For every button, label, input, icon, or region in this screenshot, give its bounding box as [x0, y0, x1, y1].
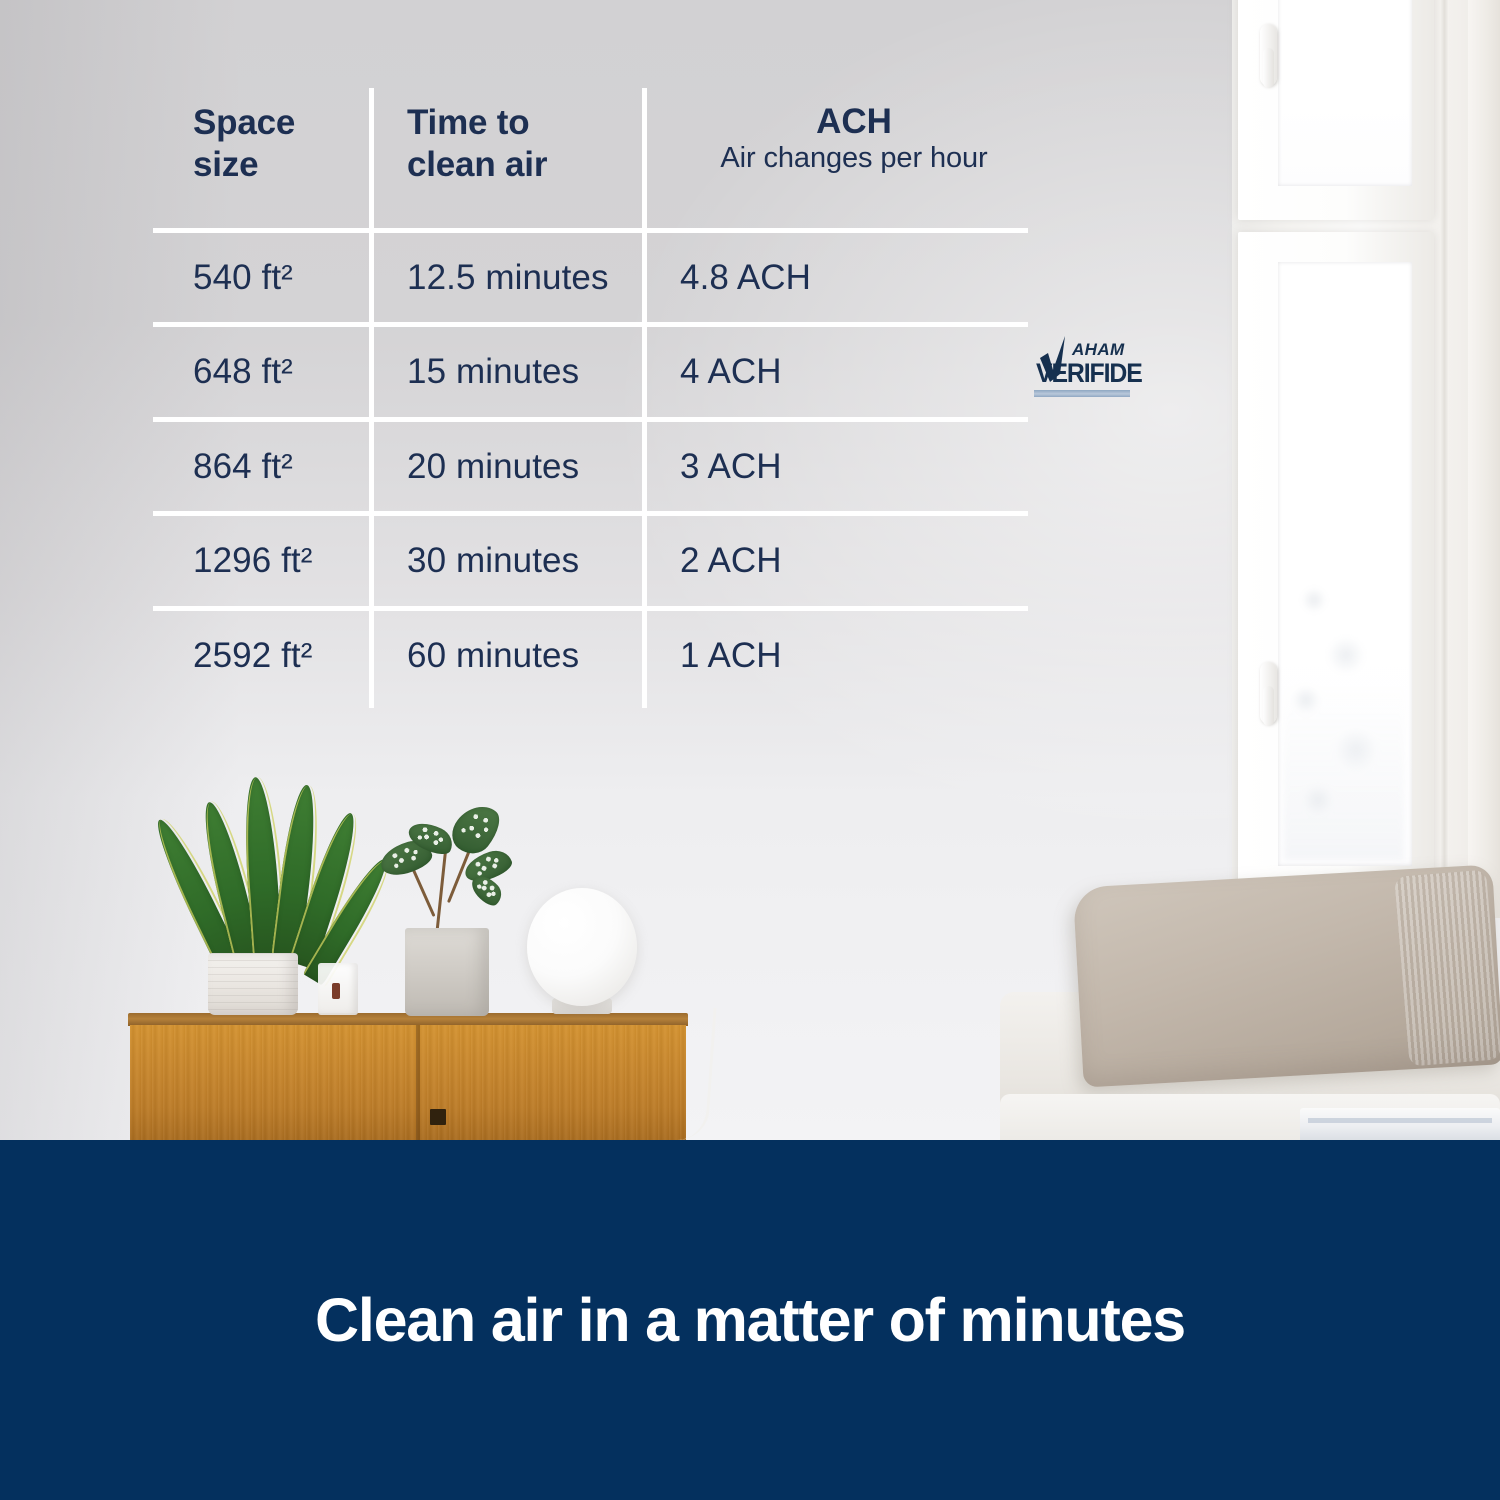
table-row: 2592 ft² — [193, 611, 369, 701]
window-handle-lower-icon — [1260, 662, 1277, 724]
header-time-line2: clean air — [407, 144, 547, 186]
sofa — [1000, 862, 1500, 1140]
table-column-divider-1 — [369, 88, 374, 708]
aham-verifide-badge: AHAM VERIFIDE — [1034, 340, 1130, 402]
badge-aham-text: AHAM — [1072, 340, 1125, 360]
header-time-line1: Time to — [407, 102, 547, 144]
table-row: 3 ACH — [680, 422, 1028, 511]
column-header-time-to-clean-air: Time to clean air — [407, 102, 642, 228]
sideboard-body — [130, 1025, 686, 1140]
table-row: 648 ft² — [193, 327, 369, 417]
table-row: 30 minutes — [407, 516, 642, 606]
globe-lamp — [527, 888, 637, 1006]
cushion-seam — [1394, 870, 1500, 1067]
banner-headline: Clean air in a matter of minutes — [315, 1285, 1185, 1355]
begonia-pot — [405, 928, 489, 1016]
table-row: 12.5 minutes — [407, 233, 642, 322]
polka-dot-begonia — [378, 805, 518, 935]
window — [1232, 0, 1500, 918]
header-space-size-line2: size — [193, 144, 295, 186]
badge-verifide-text: VERIFIDE — [1036, 358, 1142, 389]
badge-underline — [1034, 390, 1130, 397]
window-pane-upper — [1238, 0, 1434, 220]
bottom-banner: Clean air in a matter of minutes — [0, 1140, 1500, 1500]
trees-outside — [1284, 560, 1404, 860]
table-row: 1296 ft² — [193, 516, 369, 606]
book-stack — [1300, 1108, 1500, 1140]
table-row: 4.8 ACH — [680, 233, 1028, 322]
header-ach-title: ACH — [816, 102, 892, 142]
table-row: 1 ACH — [680, 611, 1028, 701]
column-header-space-size: Space size — [193, 102, 369, 228]
table-column-divider-2 — [642, 88, 647, 708]
sideboard-door-seam — [416, 1025, 420, 1140]
table-row: 540 ft² — [193, 233, 369, 322]
window-handle-upper-icon — [1260, 24, 1277, 86]
header-space-size-line1: Space — [193, 102, 295, 144]
snake-plant-pot — [208, 953, 298, 1015]
sofa-cushion — [1073, 864, 1500, 1087]
window-jamb — [1468, 0, 1500, 918]
table-grid: Space size Time to clean air ACH Air cha… — [153, 88, 1028, 708]
window-glass-upper — [1278, 0, 1412, 186]
small-glass-vessel — [318, 963, 358, 1015]
table-row: 4 ACH — [680, 327, 1028, 417]
wooden-sideboard — [128, 1013, 688, 1140]
table-row: 20 minutes — [407, 422, 642, 511]
table-row: 2 ACH — [680, 516, 1028, 606]
window-mullion — [1440, 0, 1449, 918]
window-pane-lower — [1238, 232, 1434, 912]
specs-table: Space size Time to clean air ACH Air cha… — [153, 88, 1028, 708]
snake-plant — [210, 778, 320, 958]
table-row: 15 minutes — [407, 327, 642, 417]
table-row: 60 minutes — [407, 611, 642, 701]
table-row: 864 ft² — [193, 422, 369, 511]
header-ach-subtitle: Air changes per hour — [720, 142, 987, 175]
column-header-ach: ACH Air changes per hour — [680, 102, 1028, 228]
lamp-cord — [667, 1008, 716, 1140]
sideboard-knob — [430, 1109, 446, 1125]
